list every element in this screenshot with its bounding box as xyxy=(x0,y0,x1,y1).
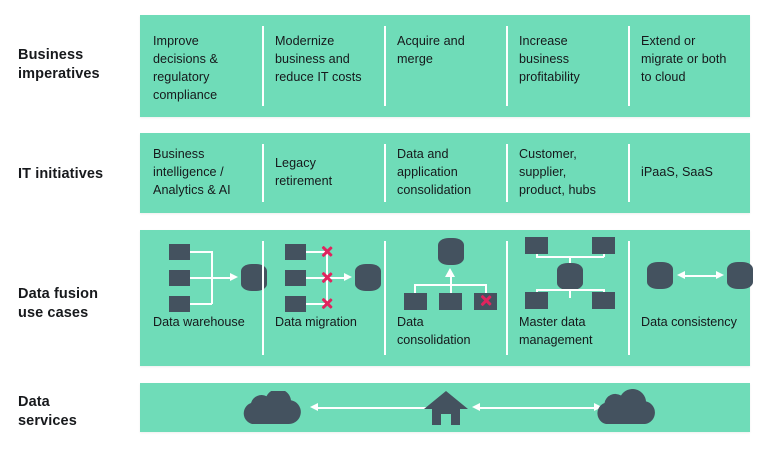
spoke-node-top-left xyxy=(525,237,548,254)
cloud-icon-left xyxy=(240,391,304,430)
use-case-label: Data consolidation xyxy=(397,314,493,350)
cell-text: Data and application consolidation xyxy=(397,146,493,200)
cell-it-initiative-4[interactable]: Customer, supplier, product, hubs xyxy=(506,133,628,213)
cell-it-initiative-3[interactable]: Data and application consolidation xyxy=(384,133,506,213)
row-label-it-initiatives: IT initiatives xyxy=(18,165,138,184)
band-data-fusion-use-cases: Data warehouse Data migration xyxy=(140,230,750,366)
service-link-right xyxy=(479,407,594,409)
spoke-node-bottom-left xyxy=(525,292,548,309)
band-it-initiatives: Business intelligence / Analytics & AI L… xyxy=(140,133,750,213)
sources-merged-upward-icon xyxy=(397,232,493,314)
cell-it-initiative-1[interactable]: Business intelligence / Analytics & AI xyxy=(140,133,262,213)
connector-mid xyxy=(190,277,230,279)
connector-riser-tl xyxy=(536,254,538,257)
cell-text: Business intelligence / Analytics & AI xyxy=(153,146,249,200)
cell-text: Increase business profitability xyxy=(519,33,615,87)
row-label-data-fusion-use-cases: Data fusion use cases xyxy=(18,285,138,323)
band-business-imperatives: Improve decisions & regulatory complianc… xyxy=(140,15,750,117)
cell-text: Acquire and merge xyxy=(397,33,493,69)
source-node-2 xyxy=(285,270,306,286)
cell-use-case-master-data-management[interactable]: Master data management xyxy=(506,230,628,366)
on-premise-house-icon xyxy=(423,390,469,431)
hub-node xyxy=(557,263,583,290)
retire-cross-icon-2 xyxy=(320,271,333,284)
row-label-business-imperatives: Business imperatives xyxy=(18,46,138,84)
use-case-label: Master data management xyxy=(519,314,615,350)
hub-and-spoke-icon xyxy=(519,232,615,314)
row-label-line-1: Data fusion xyxy=(18,285,138,304)
source-node-1 xyxy=(404,293,427,310)
cell-use-case-data-migration[interactable]: Data migration xyxy=(262,230,384,366)
retire-cross-icon-3 xyxy=(320,297,333,310)
cell-business-imperative-5[interactable]: Extend or migrate or both to cloud xyxy=(628,15,750,117)
service-link-left xyxy=(317,407,432,409)
use-case-label: Data consistency xyxy=(641,314,737,332)
connector-bus-bottom xyxy=(536,289,604,291)
retire-cross-icon-1 xyxy=(320,245,333,258)
use-case-label: Data warehouse xyxy=(153,314,249,332)
two-way-sync-icon xyxy=(641,232,737,314)
source-node-1 xyxy=(169,244,190,260)
data-services-topology xyxy=(140,383,750,432)
row-label-line-1: Data xyxy=(18,393,138,412)
cell-it-initiative-2[interactable]: Legacy retirement xyxy=(262,133,384,213)
cell-it-initiative-5[interactable]: iPaaS, SaaS xyxy=(628,133,750,213)
spoke-node-bottom-right xyxy=(592,292,615,309)
connector-bottom xyxy=(190,303,212,305)
consolidated-node xyxy=(438,238,464,265)
cell-text: Customer, supplier, product, hubs xyxy=(519,146,615,200)
sources-retired-to-target-icon xyxy=(275,232,371,314)
cell-text: Legacy retirement xyxy=(275,155,371,191)
use-case-label: Data migration xyxy=(275,314,371,332)
system-node-left xyxy=(647,262,673,289)
row-label-data-services: Data services xyxy=(18,393,138,431)
cell-business-imperative-1[interactable]: Improve decisions & regulatory complianc… xyxy=(140,15,262,117)
band-data-services xyxy=(140,383,750,432)
row-label-line-2: use cases xyxy=(18,304,138,323)
source-node-2 xyxy=(169,270,190,286)
row-label-line-1: IT initiatives xyxy=(18,165,138,184)
cell-text: Extend or migrate or both to cloud xyxy=(641,33,737,87)
sync-arrow-right xyxy=(716,271,724,279)
cell-business-imperative-2[interactable]: Modernize business and reduce IT costs xyxy=(262,15,384,117)
source-node-3 xyxy=(169,296,190,312)
cell-text: iPaaS, SaaS xyxy=(641,164,737,182)
source-node-2 xyxy=(439,293,462,310)
row-label-line-2: services xyxy=(18,412,138,431)
cell-business-imperative-3[interactable]: Acquire and merge xyxy=(384,15,506,117)
three-sources-to-warehouse-icon xyxy=(153,232,249,314)
connector-top xyxy=(190,251,212,253)
cloud-icon-right xyxy=(592,389,658,430)
connector-bus xyxy=(414,284,486,286)
flow-arrow-right xyxy=(344,273,352,281)
system-node-right xyxy=(727,262,753,289)
row-label-line-1: Business xyxy=(18,46,138,65)
cell-business-imperative-4[interactable]: Increase business profitability xyxy=(506,15,628,117)
cell-text: Modernize business and reduce IT costs xyxy=(275,33,371,87)
framework-diagram: Business imperatives Improve decisions &… xyxy=(0,0,770,451)
connector-riser-tr xyxy=(603,254,605,257)
connector-spine xyxy=(211,251,213,304)
cell-use-case-data-warehouse[interactable]: Data warehouse xyxy=(140,230,262,366)
cell-use-case-data-consolidation[interactable]: Data consolidation xyxy=(384,230,506,366)
retire-cross-icon xyxy=(479,294,492,307)
target-node xyxy=(355,264,381,291)
source-node-3 xyxy=(285,296,306,312)
row-label-line-2: imperatives xyxy=(18,65,138,84)
cell-use-case-data-consistency[interactable]: Data consistency xyxy=(628,230,750,366)
source-node-1 xyxy=(285,244,306,260)
spoke-node-top-right xyxy=(592,237,615,254)
sync-connector xyxy=(684,275,716,277)
cell-text: Improve decisions & regulatory complianc… xyxy=(153,33,249,105)
flow-arrow-right xyxy=(230,273,238,281)
